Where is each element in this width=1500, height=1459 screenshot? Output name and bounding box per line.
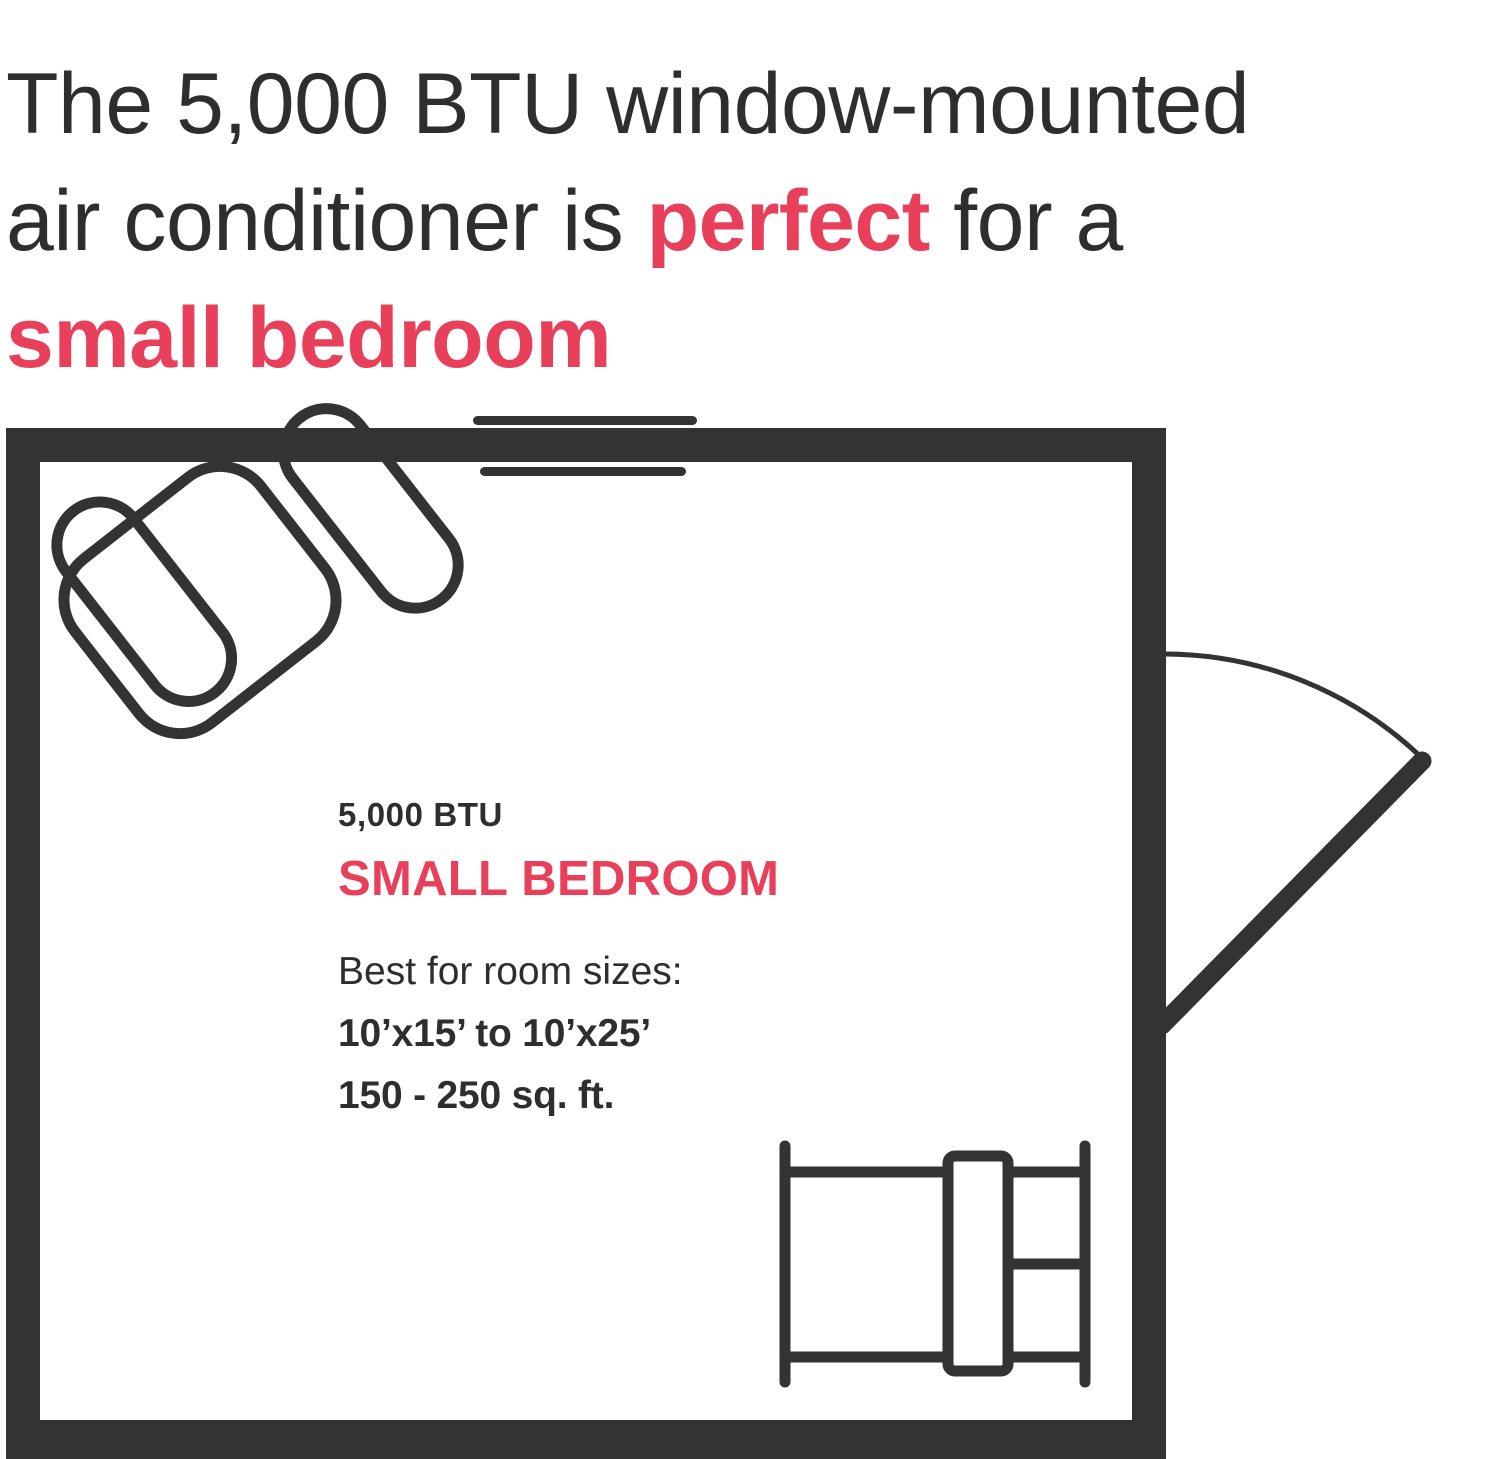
room-dimension-range: 10’x15’ to 10’x25’ — [338, 1003, 978, 1065]
door-leaf — [1162, 761, 1422, 1025]
door-swing-arc — [1166, 654, 1424, 760]
door-swing-icon — [1162, 654, 1424, 1025]
btu-rating-label: 5,000 BTU — [338, 795, 978, 835]
callout-block: 5,000 BTU SMALL BEDROOM Best for room si… — [338, 795, 978, 1127]
headline-line-2-prefix: air conditioner is — [6, 173, 647, 269]
wall-top — [6, 428, 1166, 462]
headline-accent-perfect: perfect — [647, 173, 930, 269]
bed-icon — [785, 1146, 1085, 1382]
headline-line-2: air conditioner is perfect for a — [6, 163, 1486, 280]
wall-bottom — [6, 1420, 1166, 1459]
headline-line-2-suffix: for a — [930, 173, 1123, 269]
room-size-lead-label: Best for room sizes: — [338, 941, 978, 1003]
wall-right — [1132, 428, 1166, 1459]
window-bar-inner — [480, 467, 686, 476]
armchair-arm-right — [266, 391, 475, 625]
armchair-arm-left — [40, 485, 249, 719]
window-bar-outer — [473, 416, 697, 425]
headline-line-1: The 5,000 BTU window-mounted — [6, 46, 1486, 163]
room-type-title: SMALL BEDROOM — [338, 851, 978, 907]
bed-pillow-block — [948, 1156, 1008, 1371]
wall-left — [6, 428, 40, 1459]
page-title: The 5,000 BTU window-mounted air conditi… — [6, 46, 1486, 397]
infographic-page: The 5,000 BTU window-mounted air conditi… — [0, 0, 1500, 1459]
room-area-range: 150 - 250 sq. ft. — [338, 1065, 978, 1127]
